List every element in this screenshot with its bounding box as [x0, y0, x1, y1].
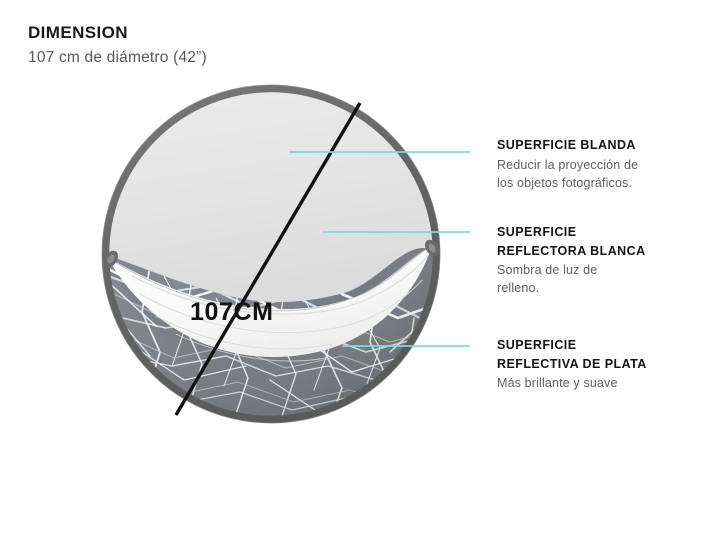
- header: DIMENSION 107 cm de diámetro (42”): [28, 22, 448, 68]
- callout-white-title-line2: REFLECTORA BLANCA: [497, 243, 712, 260]
- callout-soft-title: SUPERFICIE BLANDA: [497, 137, 712, 154]
- reflector-disc: [101, 85, 442, 430]
- callout-soft-body-line2: los objetos fotográficos.: [497, 174, 712, 192]
- callout-white-body-line2: relleno.: [497, 279, 712, 297]
- center-dimension-label: 107CM: [190, 298, 274, 326]
- page-title: DIMENSION: [28, 22, 448, 43]
- callout-soft-body-line1: Reducir la proyección de: [497, 156, 712, 174]
- reflector-figure: 107CM: [80, 80, 470, 430]
- callout-white-surface: SUPERFICIE REFLECTORA BLANCA Sombra de l…: [497, 224, 712, 298]
- callout-white-title-line1: SUPERFICIE: [497, 224, 712, 241]
- page-subtitle: 107 cm de diámetro (42”): [28, 48, 448, 67]
- callout-soft-surface: SUPERFICIE BLANDA Reducir la proyección …: [497, 137, 712, 192]
- callout-silver-body-line1: Más brillante y suave: [497, 374, 712, 392]
- callout-silver-title-line1: SUPERFICIE: [497, 337, 712, 354]
- callout-silver-title-line2: REFLECTIVA DE PLATA: [497, 356, 712, 373]
- callout-white-body-line1: Sombra de luz de: [497, 261, 712, 279]
- callout-silver-surface: SUPERFICIE REFLECTIVA DE PLATA Más brill…: [497, 337, 712, 392]
